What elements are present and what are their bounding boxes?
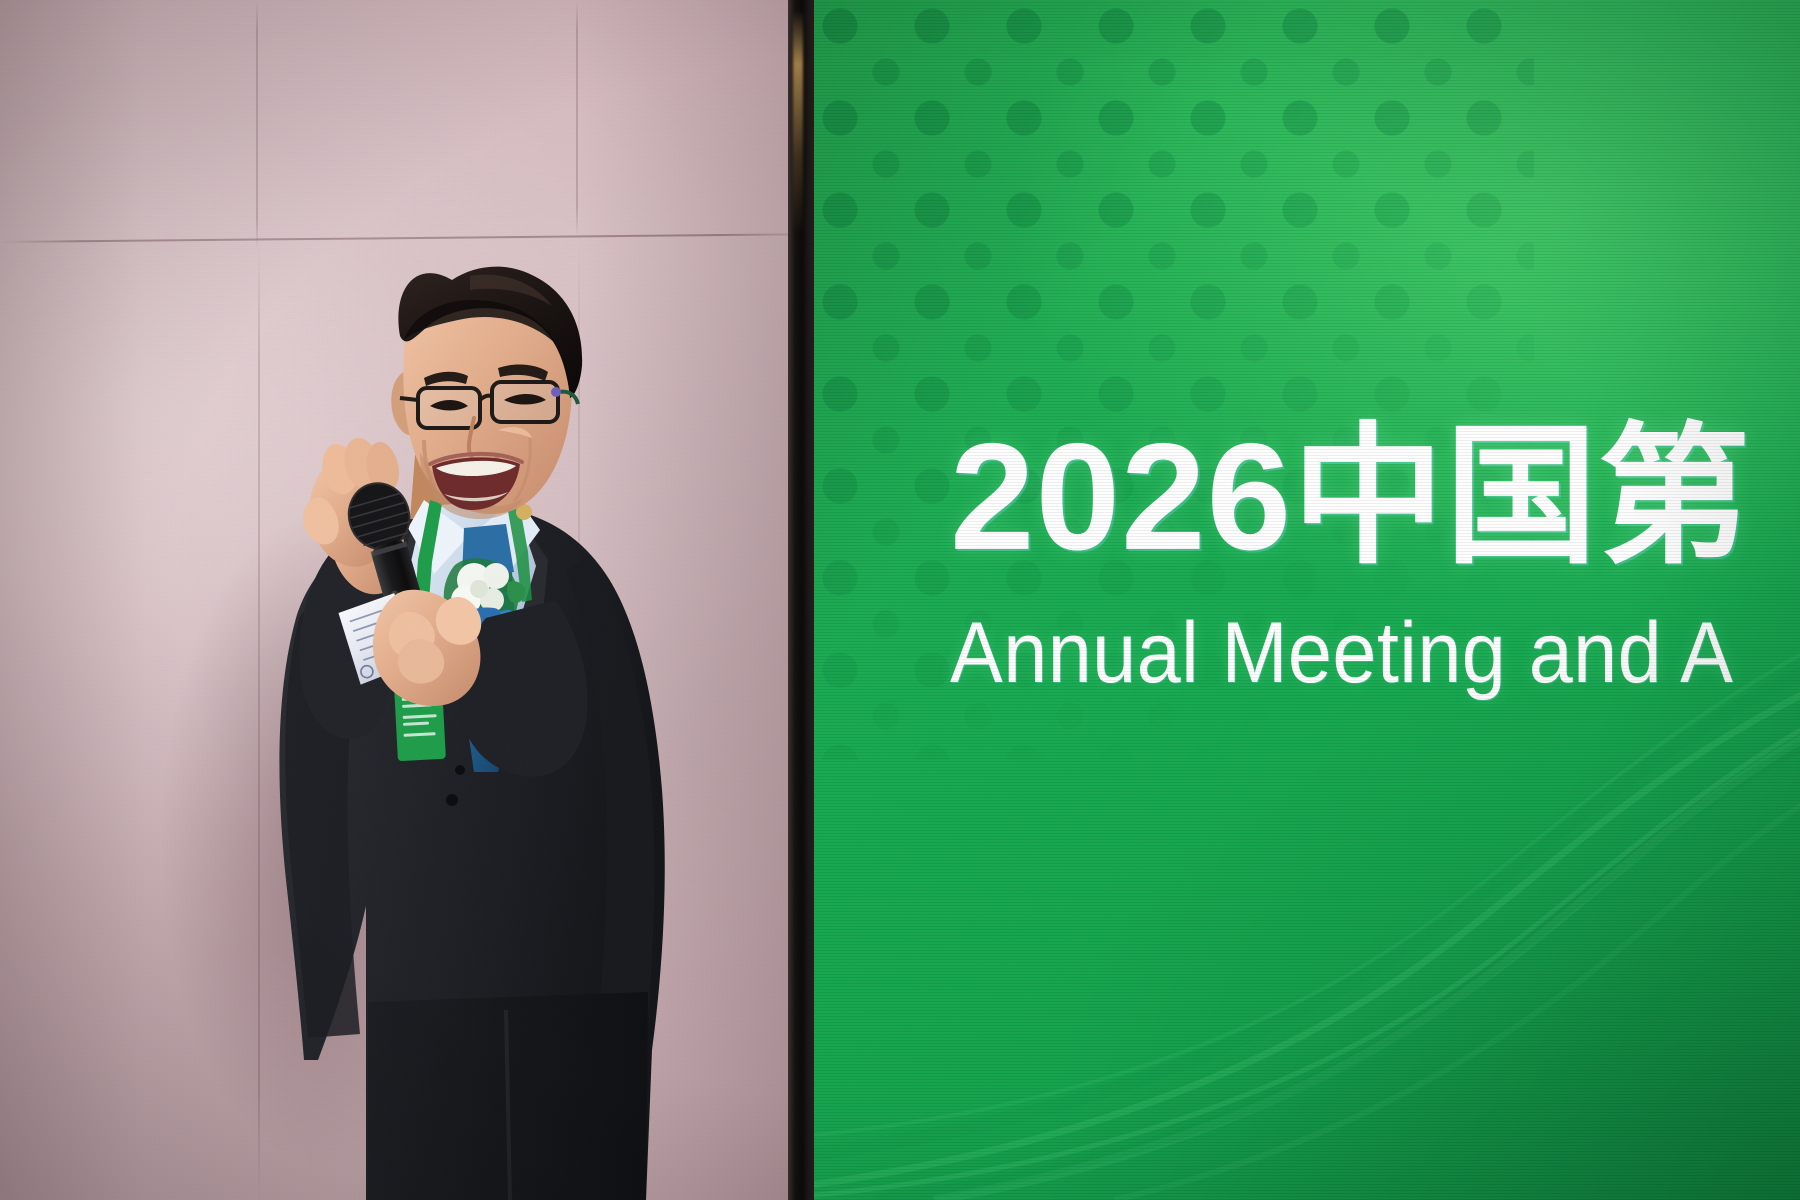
- led-screen: 2026中国第 Annual Meeting and A: [814, 0, 1800, 1200]
- screen-content: 2026中国第 Annual Meeting and A: [950, 420, 1800, 698]
- screen-subline: Annual Meeting and A: [950, 609, 1800, 698]
- wave-pattern: [814, 640, 1800, 1200]
- speaker-figure: [0, 0, 800, 1200]
- suit-button-2: [455, 765, 465, 775]
- suit-button-1: [446, 794, 458, 806]
- screen-headline: 2026中国第: [950, 420, 1800, 575]
- stage-photo: 2026中国第 Annual Meeting and A: [0, 0, 1800, 1200]
- glasses-temple-dot: [551, 387, 561, 397]
